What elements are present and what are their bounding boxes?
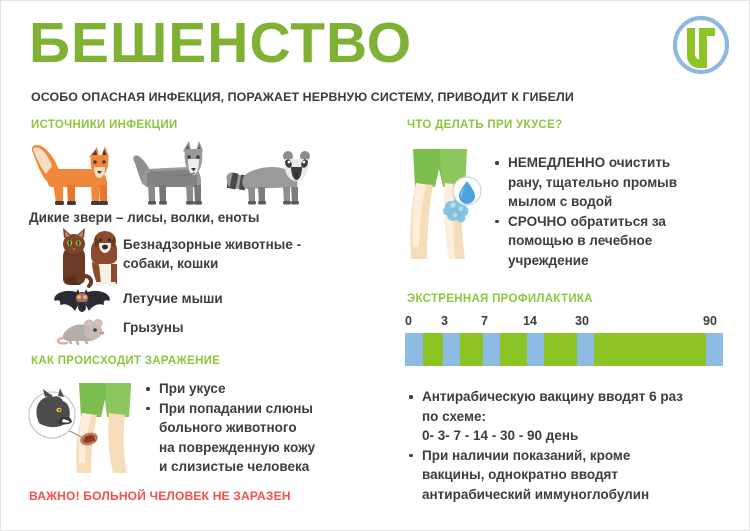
source-item-label-strays: Безнадзорные животные - собаки, кошки	[123, 235, 353, 273]
source-item-label-strays-line2: собаки, кошки	[123, 254, 353, 273]
cat-dog-icon	[51, 228, 129, 290]
timeline-marker-day-7	[483, 333, 500, 366]
bat-icon	[53, 289, 111, 319]
list-item: мылом с водой	[491, 192, 741, 212]
list-item: При попадании слюны	[142, 399, 372, 419]
infographic-poster: БЕШЕНСТВО ОСОБО ОПАСНАЯ ИНФЕКЦИЯ, ПОРАЖА…	[0, 0, 750, 531]
list-item: больного животного	[142, 418, 372, 438]
timeline-tick-label-3: 3	[441, 314, 448, 328]
list-item: вакцины, однократно вводят	[405, 465, 735, 485]
bitten-leg-illustration	[27, 373, 151, 478]
wolf-icon	[131, 141, 209, 209]
timeline-marker-day-14	[527, 333, 544, 366]
list-item: При наличии показаний, кроме	[405, 446, 735, 466]
source-item-label-bats: Летучие мыши	[123, 289, 223, 308]
list-item: рану, тщательно промыв	[491, 173, 741, 193]
mouse-icon	[55, 317, 111, 345]
raccoon-icon	[225, 147, 311, 209]
wild-animals-caption: Дикие звери – лисы, волки, еноты	[29, 208, 359, 227]
fox-icon	[29, 143, 113, 209]
timeline-tick-label-7: 7	[481, 314, 488, 328]
timeline-marker-day-30	[577, 333, 594, 366]
list-item: по схеме:	[405, 407, 735, 427]
list-item: и слизистые человека	[142, 457, 372, 477]
timeline-marker-day-0	[405, 333, 423, 366]
section-heading-transmission: КАК ПРОИСХОДИТ ЗАРАЖЕНИЕ	[31, 355, 220, 367]
list-item: на поврежденную кожу	[142, 438, 372, 458]
source-item-label-strays-line1: Безнадзорные животные -	[123, 235, 353, 254]
list-item: При укусе	[142, 379, 372, 399]
organization-logo-icon	[669, 13, 733, 77]
section-heading-prophylaxis: ЭКСТРЕННАЯ ПРОФИЛАКТИКА	[407, 293, 593, 305]
section-heading-first-aid: ЧТО ДЕЛАТЬ ПРИ УКУСЕ?	[407, 119, 562, 131]
list-item: СРОЧНО обратиться за	[491, 212, 741, 232]
timeline-tick-label-90: 90	[703, 314, 717, 328]
list-item: 0- 3- 7 - 14 - 30 - 90 день	[405, 426, 735, 446]
transmission-bullet-list: При укусе При попадании слюны больного ж…	[142, 379, 372, 477]
page-title: БЕШЕНСТВО	[29, 11, 412, 75]
source-item-label-rodents: Грызуны	[123, 318, 183, 337]
page-subtitle: ОСОБО ОПАСНАЯ ИНФЕКЦИЯ, ПОРАЖАЕТ НЕРВНУЮ…	[31, 90, 574, 104]
prophylaxis-bullet-list: Антирабическую вакцину вводят 6 раз по с…	[405, 387, 735, 504]
list-item: учреждение	[491, 251, 741, 271]
list-item: НЕМЕДЛЕННО очистить	[491, 153, 741, 173]
warning-banner: ВАЖНО! БОЛЬНОЙ ЧЕЛОВЕК НЕ ЗАРАЗЕН	[29, 489, 291, 503]
list-item: помощью в лечебное	[491, 231, 741, 251]
timeline-marker-day-90	[706, 333, 723, 366]
section-heading-sources: ИСТОЧНИКИ ИНФЕКЦИИ	[31, 119, 178, 131]
first-aid-bullet-list: НЕМЕДЛЕННО очистить рану, тщательно пром…	[491, 153, 741, 270]
list-item: антирабический иммуноглобулин	[405, 485, 735, 505]
timeline-marker-day-3	[443, 333, 460, 366]
timeline-axis-labels: 0 3 7 14 30 90	[405, 314, 725, 330]
timeline-tick-label-0: 0	[405, 314, 412, 328]
timeline-tick-label-14: 14	[523, 314, 537, 328]
list-item: Антирабическую вакцину вводят 6 раз	[405, 387, 735, 407]
vaccination-timeline-bar	[405, 333, 723, 366]
timeline-tick-label-30: 30	[575, 314, 589, 328]
